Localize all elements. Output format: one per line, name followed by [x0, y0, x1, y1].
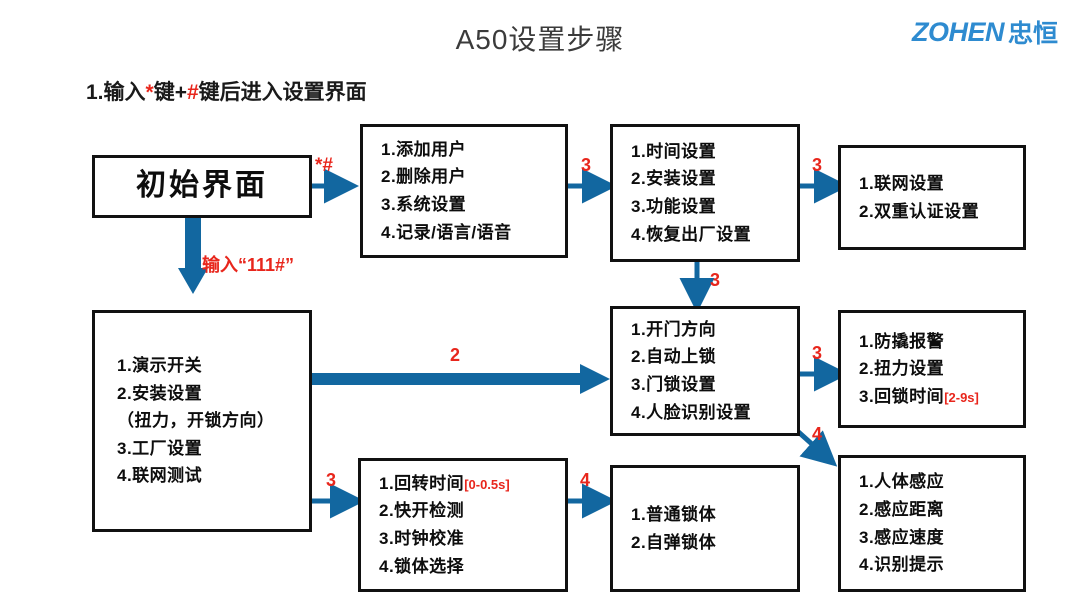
network-settings-item-2: 2.双重认证设置: [859, 198, 1023, 226]
factory-menu-item-2: 2.安装设置: [117, 380, 309, 408]
install-settings-item-1: 1.开门方向: [631, 316, 797, 344]
function-item-1-label: 1.回转时间: [379, 474, 464, 493]
box-initial-title: 初始界面: [136, 162, 268, 211]
arrow-label-install-to-torque: 3: [812, 343, 822, 364]
box-initial-screen[interactable]: 初始界面: [92, 155, 312, 218]
instruction-mid: 键+: [154, 81, 187, 104]
face-settings-item-3: 3.感应速度: [859, 524, 1023, 552]
arrow-label-menu-to-system: 3: [581, 155, 591, 176]
arrow-label-star-hash: *#: [315, 155, 333, 177]
main-menu-item-2: 2.删除用户: [381, 163, 565, 191]
arrow-label-install-to-face: 4: [812, 424, 822, 445]
main-menu-item-3: 3.系统设置: [381, 191, 565, 219]
arrow-label-function-to-lockbody: 4: [580, 470, 590, 491]
arrow-factory-to-install: [312, 364, 610, 394]
box-system-settings[interactable]: 1.时间设置 2.安装设置 3.功能设置 4.恢复出厂设置: [610, 124, 800, 262]
arrow-label-factory-to-function: 3: [326, 470, 336, 491]
system-settings-item-2: 2.安装设置: [631, 165, 797, 193]
face-settings-item-1: 1.人体感应: [859, 468, 1023, 496]
brand-logo: ZOHEN 忠恒: [912, 14, 1058, 50]
logo-text-en: ZOHEN: [912, 17, 1004, 48]
box-function-settings[interactable]: 1.回转时间[0-0.5s] 2.快开检测 3.时钟校准 4.锁体选择: [358, 458, 568, 592]
lock-body-item-2: 2.自弹锁体: [631, 529, 797, 557]
face-settings-item-4: 4.识别提示: [859, 551, 1023, 579]
factory-menu-item-3: 3.工厂设置: [117, 435, 309, 463]
function-settings-item-4: 4.锁体选择: [379, 553, 565, 581]
arrow-label-system-to-install: 3: [710, 270, 720, 291]
system-settings-item-1: 1.时间设置: [631, 138, 797, 166]
box-main-menu[interactable]: 1.添加用户 2.删除用户 3.系统设置 4.记录/语言/语音: [360, 124, 568, 258]
instruction-suffix: 键后进入设置界面: [199, 81, 367, 104]
install-settings-item-3: 3.门锁设置: [631, 371, 797, 399]
main-menu-item-1: 1.添加用户: [381, 136, 565, 164]
function-settings-item-3: 3.时钟校准: [379, 525, 565, 553]
instruction-prefix: 1.输入: [86, 81, 146, 104]
box-lock-body[interactable]: 1.普通锁体 2.自弹锁体: [610, 465, 800, 592]
system-settings-item-4: 4.恢复出厂设置: [631, 221, 797, 249]
system-settings-item-3: 3.功能设置: [631, 193, 797, 221]
install-settings-item-4: 4.人脸识别设置: [631, 399, 797, 427]
torque-settings-item-3: 3.回锁时间[2-9s]: [859, 383, 1023, 411]
logo-text-cn: 忠恒: [1008, 14, 1058, 50]
lock-body-item-1: 1.普通锁体: [631, 501, 797, 529]
factory-menu-item-4: 4.联网测试: [117, 462, 309, 490]
function-settings-item-1: 1.回转时间[0-0.5s]: [379, 470, 565, 498]
network-settings-item-1: 1.联网设置: [859, 170, 1023, 198]
box-network-settings[interactable]: 1.联网设置 2.双重认证设置: [838, 145, 1026, 250]
arrow-label-enter-111: 输入“111#”: [202, 251, 294, 277]
factory-menu-item-1: 1.演示开关: [117, 352, 309, 380]
box-torque-settings[interactable]: 1.防撬报警 2.扭力设置 3.回锁时间[2-9s]: [838, 310, 1026, 428]
face-settings-item-2: 2.感应距离: [859, 496, 1023, 524]
function-settings-item-2: 2.快开检测: [379, 497, 565, 525]
instruction-hash: #: [187, 81, 199, 104]
function-item-1-range: [0-0.5s]: [464, 477, 510, 492]
arrow-label-factory-to-install: 2: [450, 345, 460, 366]
main-menu-item-4: 4.记录/语言/语音: [381, 219, 565, 247]
install-settings-item-2: 2.自动上锁: [631, 343, 797, 371]
step-1-instruction: 1.输入*键+#键后进入设置界面: [86, 76, 367, 106]
box-install-settings[interactable]: 1.开门方向 2.自动上锁 3.门锁设置 4.人脸识别设置: [610, 306, 800, 436]
torque-item-3-label: 3.回锁时间: [859, 387, 944, 406]
torque-settings-item-1: 1.防撬报警: [859, 328, 1023, 356]
box-factory-menu[interactable]: 1.演示开关 2.安装设置 （扭力，开锁方向） 3.工厂设置 4.联网测试: [92, 310, 312, 532]
box-face-sensor-settings[interactable]: 1.人体感应 2.感应距离 3.感应速度 4.识别提示: [838, 455, 1026, 592]
arrow-label-system-to-network: 3: [812, 155, 822, 176]
torque-settings-item-2: 2.扭力设置: [859, 355, 1023, 383]
instruction-star: *: [146, 81, 154, 104]
factory-menu-item-2-note: （扭力，开锁方向）: [117, 407, 309, 435]
torque-item-3-range: [2-9s]: [944, 390, 979, 405]
